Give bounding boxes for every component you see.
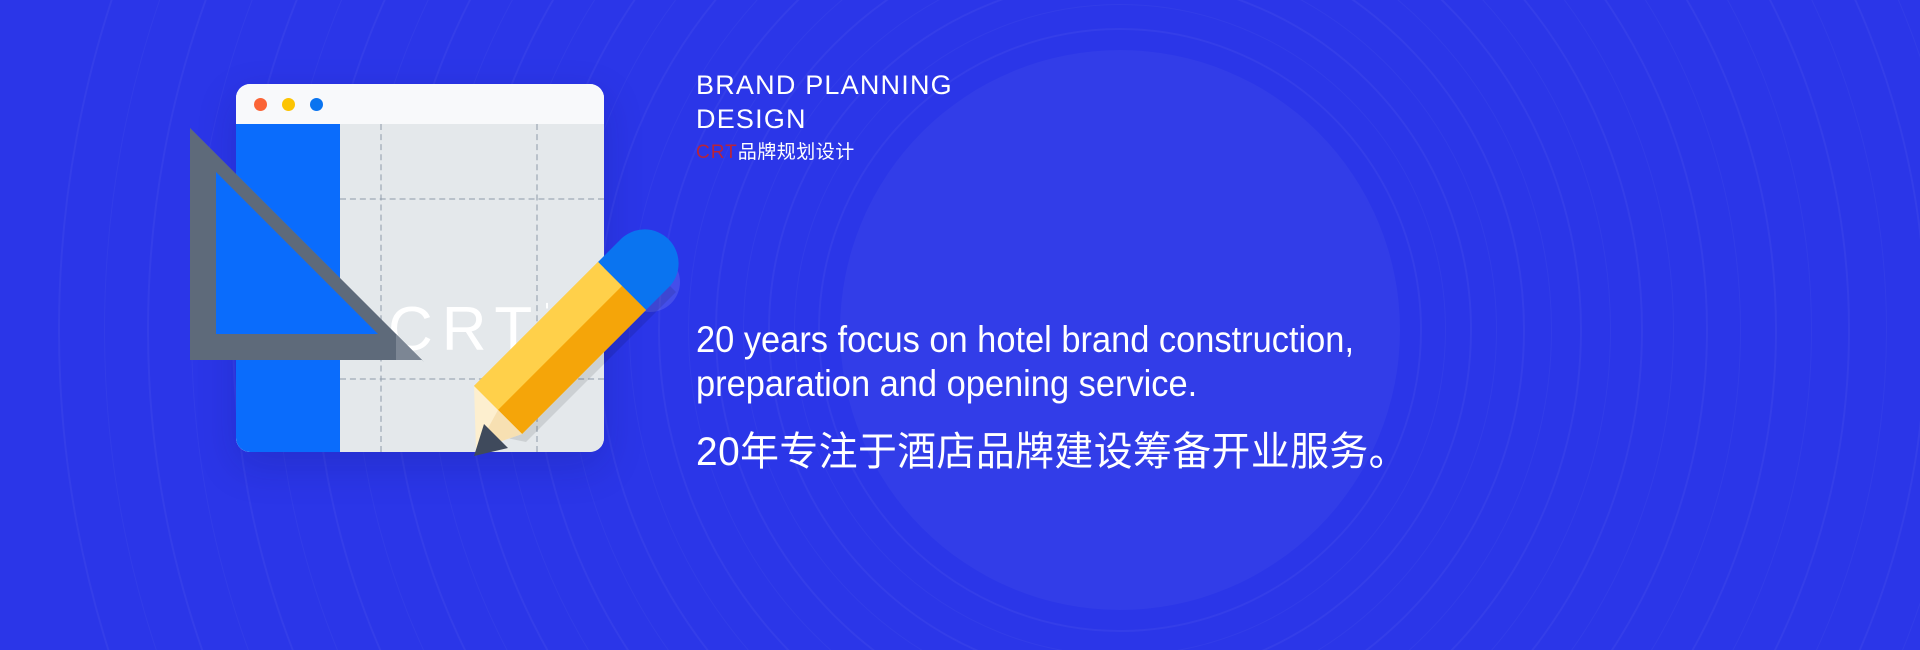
minimize-dot (282, 98, 295, 111)
triangle-ruler-icon (190, 128, 430, 368)
eyebrow-line-1: BRAND PLANNING (696, 68, 1396, 102)
brand-banner: CRTˈ (0, 0, 1920, 650)
text-column: BRAND PLANNING DESIGN CRT品牌规划设计 20 years… (696, 0, 1796, 650)
tagline-block: 20 years focus on hotel brand constructi… (696, 318, 1716, 476)
eyebrow-chinese: CRT品牌规划设计 (696, 141, 1396, 165)
eyebrow-line-2: DESIGN (696, 102, 1396, 136)
brand-name-crt: CRT (696, 142, 738, 163)
eyebrow-heading: BRAND PLANNING DESIGN CRT品牌规划设计 (696, 68, 1396, 165)
eyebrow-chinese-suffix: 品牌规划设计 (738, 142, 855, 163)
tagline-en-line-1: 20 years focus on hotel brand constructi… (696, 318, 1645, 362)
tagline-en-line-2: preparation and opening service. (696, 362, 1645, 406)
tagline-chinese: 20年专注于酒店品牌建设筹备开业服务。 (696, 428, 1685, 476)
pencil-icon (470, 228, 700, 458)
close-dot (254, 98, 267, 111)
browser-titlebar (236, 84, 604, 124)
maximize-dot (310, 98, 323, 111)
